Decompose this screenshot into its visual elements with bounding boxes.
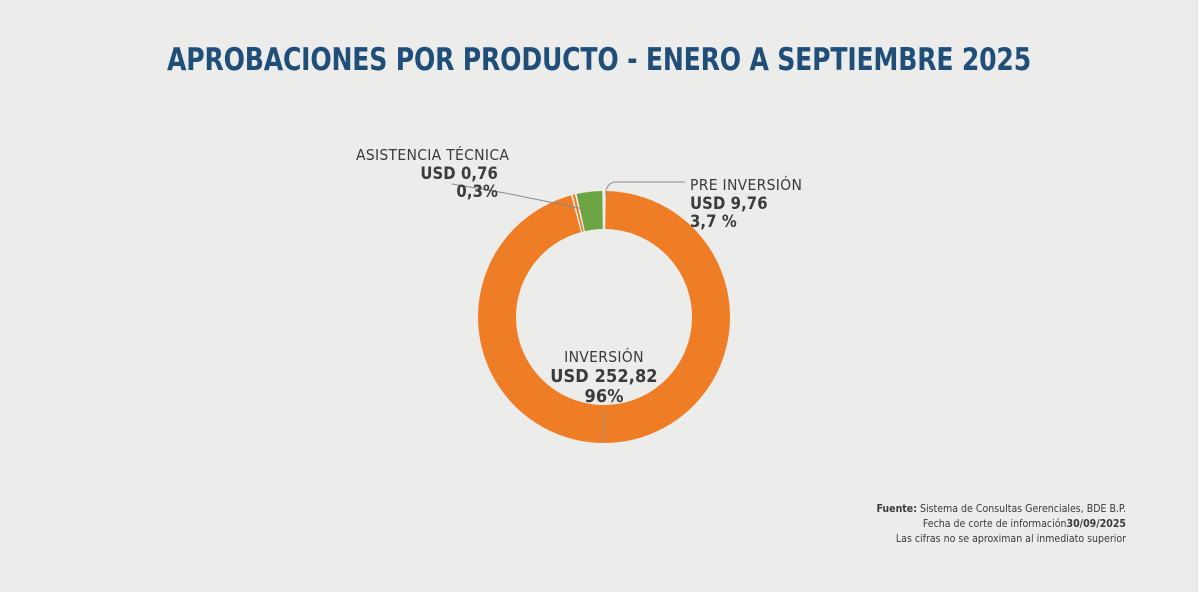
data-label-asistencia-percent: 0,3% xyxy=(356,183,498,202)
footnote-cutoff-date: 30/09/2025 xyxy=(1067,518,1126,530)
data-label-pre-inversion-amount: USD 9,76 xyxy=(690,195,850,214)
page-title: APROBACIONES POR PRODUCTO - ENERO A SEPT… xyxy=(60,42,1138,78)
data-label-asistencia-amount: USD 0,76 xyxy=(356,165,498,184)
data-label-inversion-amount: USD 252,82 xyxy=(524,367,684,387)
data-label-inversion-category: INVERSIÓN xyxy=(524,349,684,367)
data-label-inversion: INVERSIÓN USD 252,82 96% xyxy=(524,349,684,407)
footnote-source-text: Sistema de Consultas Gerenciales, BDE B.… xyxy=(917,503,1126,515)
footnote-cutoff-line: Fecha de corte de información30/09/2025 xyxy=(877,517,1127,532)
data-label-pre-inversion-category: PRE INVERSIÓN xyxy=(690,177,850,195)
footnote-source-label: Fuente: xyxy=(877,503,918,515)
data-label-asistencia-category: ASISTENCIA TÉCNICA xyxy=(356,147,498,165)
footnote-cutoff-label: Fecha de corte de información xyxy=(923,518,1067,530)
chart-canvas: APROBACIONES POR PRODUCTO - ENERO A SEPT… xyxy=(0,0,1198,592)
data-label-pre-inversion-percent: 3,7 % xyxy=(690,213,850,232)
footnote: Fuente: Sistema de Consultas Gerenciales… xyxy=(877,502,1127,547)
data-label-pre-inversion: PRE INVERSIÓN USD 9,76 3,7 % xyxy=(690,177,850,232)
footnote-source-line: Fuente: Sistema de Consultas Gerenciales… xyxy=(877,502,1127,517)
data-label-inversion-percent: 96% xyxy=(524,387,684,407)
footnote-note-line: Las cifras no se aproximan al inmediato … xyxy=(877,532,1127,547)
data-label-asistencia-tecnica: ASISTENCIA TÉCNICA USD 0,76 0,3% xyxy=(356,147,498,202)
